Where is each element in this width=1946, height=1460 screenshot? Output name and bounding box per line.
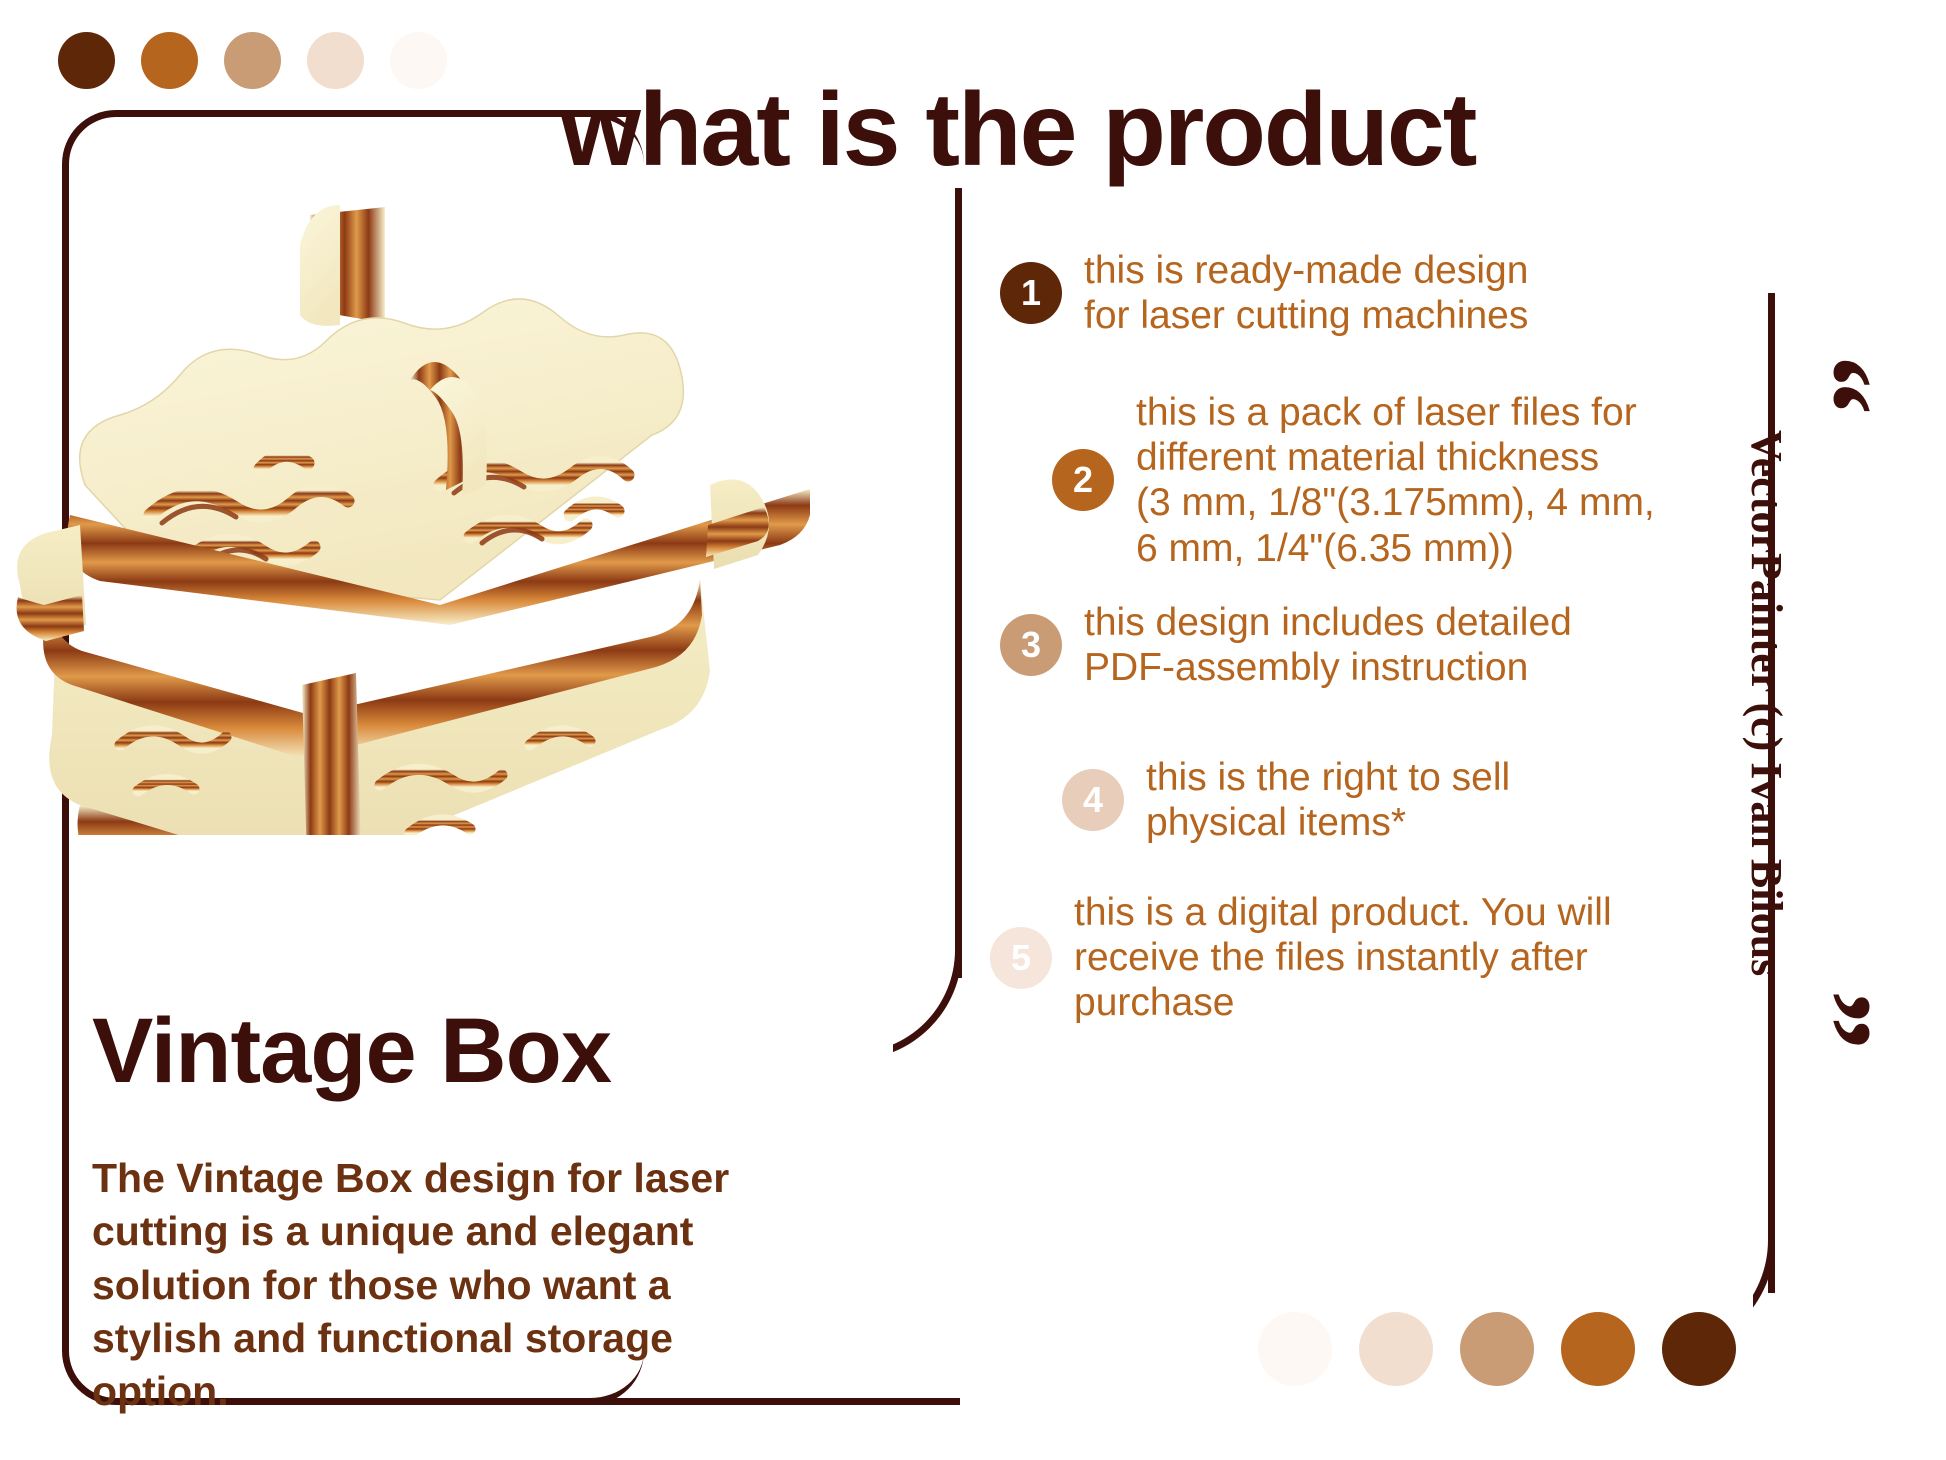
feature-item-2: 2 this is a pack of laser files for diff… <box>1052 390 1655 571</box>
feature-text-5: this is a digital product. You will rece… <box>1074 890 1612 1026</box>
feature-text-2: this is a pack of laser files for differ… <box>1136 390 1655 571</box>
quote-open-icon: “ <box>1770 355 1890 415</box>
palette-top-swatch-3 <box>224 32 281 89</box>
palette-bottom <box>1258 1312 1736 1386</box>
palette-top-swatch-5 <box>390 32 447 89</box>
feature-text-1: this is ready-made design for laser cutt… <box>1084 248 1528 338</box>
palette-bottom-swatch-1 <box>1258 1312 1332 1386</box>
feature-item-1: 1 this is ready-made design for laser cu… <box>1000 248 1528 338</box>
palette-top-swatch-4 <box>307 32 364 89</box>
palette-top <box>58 32 447 89</box>
page-title: what is the product <box>560 78 1475 182</box>
box-left-wing <box>17 525 86 641</box>
palette-bottom-swatch-5 <box>1662 1312 1736 1386</box>
palette-bottom-swatch-4 <box>1561 1312 1635 1386</box>
feature-text-3: this design includes detailed PDF-assemb… <box>1084 600 1572 690</box>
palette-bottom-swatch-2 <box>1359 1312 1433 1386</box>
feature-item-4: 4 this is the right to sell physical ite… <box>1062 755 1510 845</box>
palette-top-swatch-1 <box>58 32 115 89</box>
box-corner-post <box>302 673 362 835</box>
feature-badge-2: 2 <box>1052 449 1114 511</box>
left-frame-inner-vertical-line <box>955 188 962 978</box>
feature-item-5: 5 this is a digital product. You will re… <box>990 890 1612 1026</box>
product-name: Vintage Box <box>92 1005 611 1097</box>
feature-badge-3: 3 <box>1000 614 1062 676</box>
palette-bottom-swatch-3 <box>1460 1312 1534 1386</box>
palette-top-swatch-2 <box>141 32 198 89</box>
feature-badge-1: 1 <box>1000 262 1062 324</box>
quote-close-icon: ” <box>1770 990 1890 1050</box>
product-description: The Vintage Box design for laser cutting… <box>92 1152 752 1418</box>
feature-item-3: 3 this design includes detailed PDF-asse… <box>1000 600 1572 690</box>
left-frame-curve-mask <box>693 893 893 1068</box>
box-right-wing <box>706 479 769 569</box>
attribution-text: VectorPainter (c) Ivan Bilous <box>1741 430 1792 990</box>
feature-badge-5: 5 <box>990 927 1052 989</box>
box-rear-fin <box>300 205 385 326</box>
box-body-right <box>310 579 710 835</box>
vintage-box-illustration <box>10 185 810 835</box>
feature-badge-4: 4 <box>1062 769 1124 831</box>
feature-text-4: this is the right to sell physical items… <box>1146 755 1510 845</box>
